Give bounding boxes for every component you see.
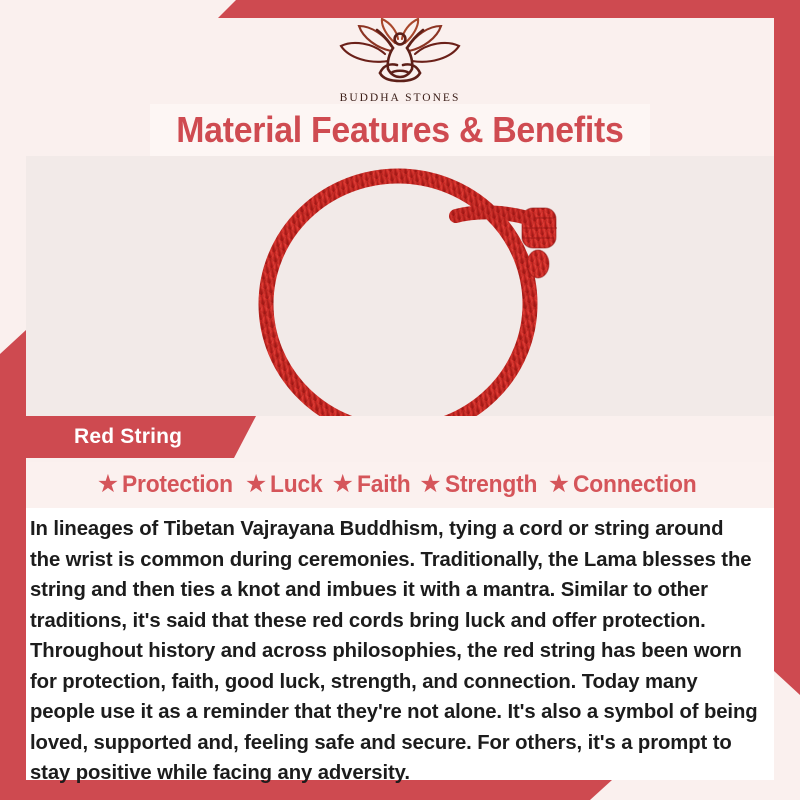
feature-label: Luck [270,471,322,499]
product-label-banner: Red String [26,416,256,458]
star-icon: ★ [245,472,267,497]
feature-item-strength: ★ Strength [419,471,541,499]
product-image-panel [26,156,774,416]
feature-label: Strength [445,471,537,499]
feature-item-protection: ★ Protection [97,471,239,499]
poster-canvas: BUDDHA STONES Material Features & Benefi… [0,0,800,800]
star-icon: ★ [548,472,570,497]
star-icon: ★ [332,472,354,497]
feature-item-faith: ★ Faith [332,471,414,499]
feature-item-connection: ★ Connection [548,471,703,499]
description-panel: In lineages of Tibetan Vajrayana Buddhis… [26,508,774,780]
decor-right-bar [774,0,800,695]
decor-top-bar [218,0,800,18]
title-band: Material Features & Benefits [150,104,650,156]
feature-label: Faith [357,471,411,499]
star-icon: ★ [419,472,441,497]
lotus-meditation-icon [325,18,475,90]
brand-name: BUDDHA STONES [340,92,461,104]
feature-item-luck: ★ Luck [245,471,326,499]
product-label: Red String [74,425,182,449]
feature-label: Connection [573,471,697,499]
brand-logo: BUDDHA STONES [0,18,800,104]
red-string-bracelet-photo [26,156,774,416]
feature-label: Protection [122,471,233,499]
star-icon: ★ [97,472,119,497]
page-title: Material Features & Benefits [176,109,623,151]
description-text: In lineages of Tibetan Vajrayana Buddhis… [30,514,758,789]
feature-list: ★ Protection ★ Luck ★ Faith ★ Strength ★… [26,462,774,508]
decor-left-bar [0,330,26,800]
